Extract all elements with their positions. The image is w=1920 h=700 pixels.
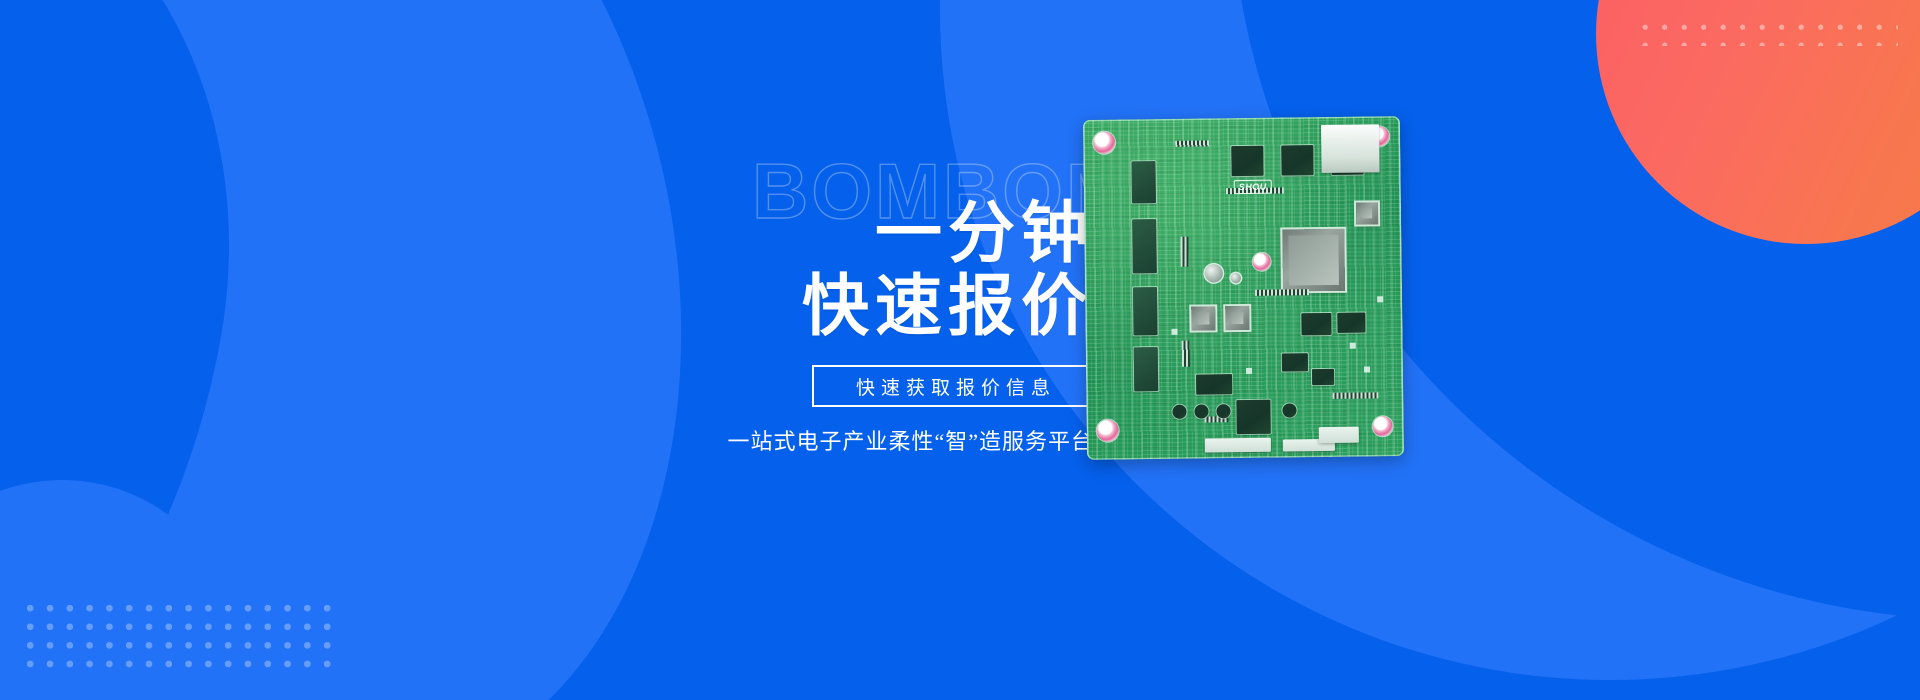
pcb-pin-header [1175,140,1209,146]
pcb-board-image: SHOU [1083,116,1404,460]
headline: 一分钟 快速报价 [686,198,1094,343]
pcb-pin-header [1182,341,1190,367]
banner-copy: 一分钟 快速报价 快速获取报价信息 一站式电子产业柔性“智”造服务平台 [686,198,1094,456]
pcb-connector [1172,405,1186,419]
pcb-ic-chip [1301,313,1331,335]
pcb-pad [1246,368,1252,374]
pcb-inductor [1356,202,1378,224]
pcb-inductor [1191,306,1215,330]
dot-grid-bottom-left-icon [26,604,332,670]
pcb-mount-hole [1097,420,1119,442]
pcb-pad [1350,343,1356,349]
pcb-pad [1171,329,1177,335]
pcb-processor-chip [1282,229,1345,292]
pcb-mount-hole [1093,132,1115,154]
headline-line-1: 一分钟 [875,196,1094,271]
pcb-pin-header [1255,289,1309,296]
pcb-ic-chip [1196,374,1232,394]
pcb-ic-chip [1312,369,1334,385]
pcb-edge-connector [1319,427,1359,443]
pcb-connector [1194,404,1208,418]
pcb-pin-header [1180,237,1188,267]
pcb-connector [1282,403,1296,417]
pcb-ic-chip [1132,219,1157,273]
pcb-pin-header [1332,392,1378,399]
dot-grid-top-right-icon [1642,24,1898,46]
pcb-ic-chip [1337,313,1365,333]
pcb-capacitor [1231,273,1241,283]
pcb-mount-hole [1373,416,1393,436]
pcb-logo-text: SHOU [1234,180,1272,194]
pcb-capacitor [1205,264,1223,282]
pcb-ic-chip [1236,400,1270,434]
promo-banner: BOMBOM 一分钟 快速报价 快速获取报价信息 一站式电子产业柔性“智”造服务… [0,0,1920,700]
headline-line-2: 快速报价 [686,271,1094,344]
pcb-pad [1364,366,1370,372]
pcb-inductor [1225,306,1249,330]
pcb-pad [1377,296,1383,302]
pcb-ic-chip [1282,353,1308,371]
pcb-connector [1216,404,1230,418]
subtitle: 一站式电子产业柔性“智”造服务平台 [686,424,1094,456]
pcb-substrate: SHOU [1083,116,1404,460]
pcb-via-hole [1253,253,1271,271]
pcb-edge-connector [1205,438,1271,453]
pcb-ic-chip [1131,161,1156,203]
pcb-sim-card-slot [1321,124,1380,173]
pcb-ic-chip [1281,145,1313,175]
pcb-ic-chip [1133,287,1158,335]
pcb-ic-chip [1231,146,1263,176]
pcb-ic-chip [1134,347,1159,391]
get-quote-button[interactable]: 快速获取报价信息 [812,365,1094,407]
